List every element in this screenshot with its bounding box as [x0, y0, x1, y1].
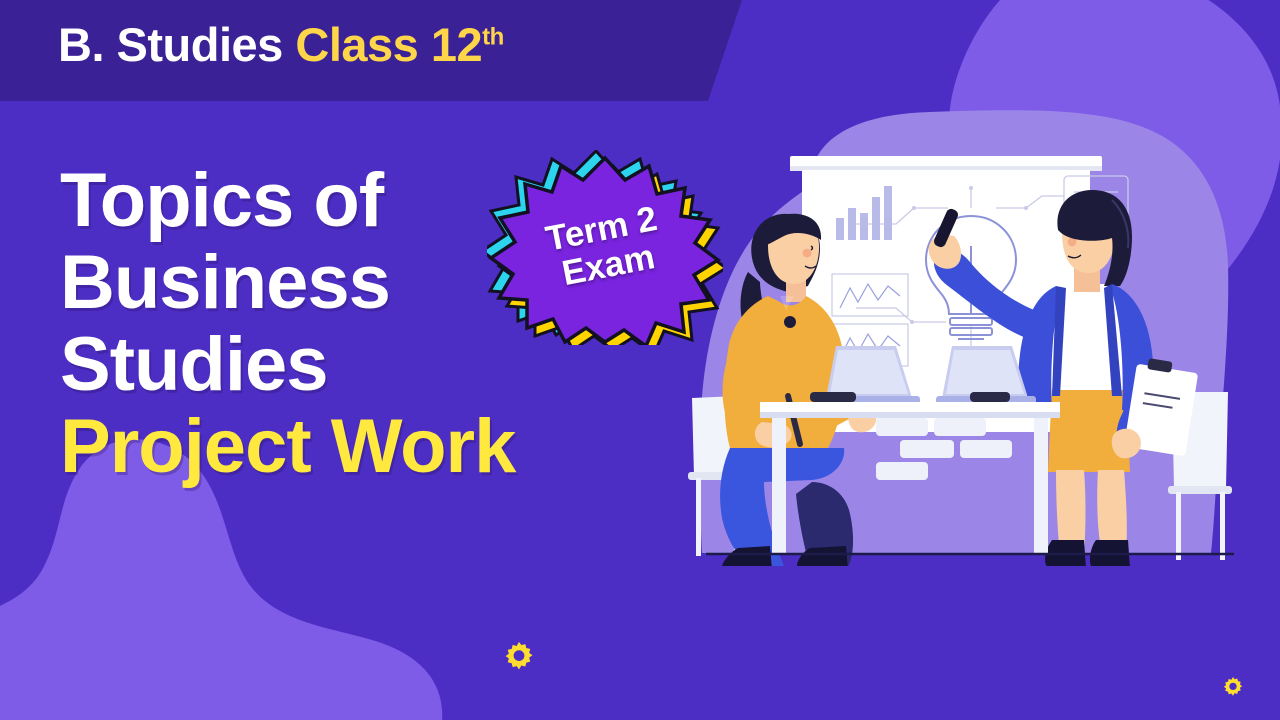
header-title-highlight: Class 12: [295, 18, 482, 71]
header-title-superscript: th: [482, 23, 504, 50]
gear-icon[interactable]: [1220, 675, 1246, 701]
laptop-right-base-shadow: [970, 392, 1010, 402]
laptop-left-base-shadow: [810, 392, 856, 402]
header-title-primary: B. Studies: [58, 18, 283, 71]
term-exam-badge: Term 2 Exam: [487, 150, 723, 345]
gear-icon[interactable]: [500, 639, 538, 677]
page-title: Topics of Business Studies Project Work: [60, 160, 515, 488]
business-presentation-illustration: [660, 96, 1280, 566]
headline-line-2: Business: [60, 242, 515, 324]
headline-line-1: Topics of: [60, 160, 515, 242]
header-title: B. Studies Class 12th: [58, 21, 504, 68]
headline-line-4: Project Work: [60, 406, 515, 488]
slide-canvas: B. Studies Class 12th Topics of Business…: [0, 0, 1280, 720]
headline-line-3: Studies: [60, 324, 515, 406]
